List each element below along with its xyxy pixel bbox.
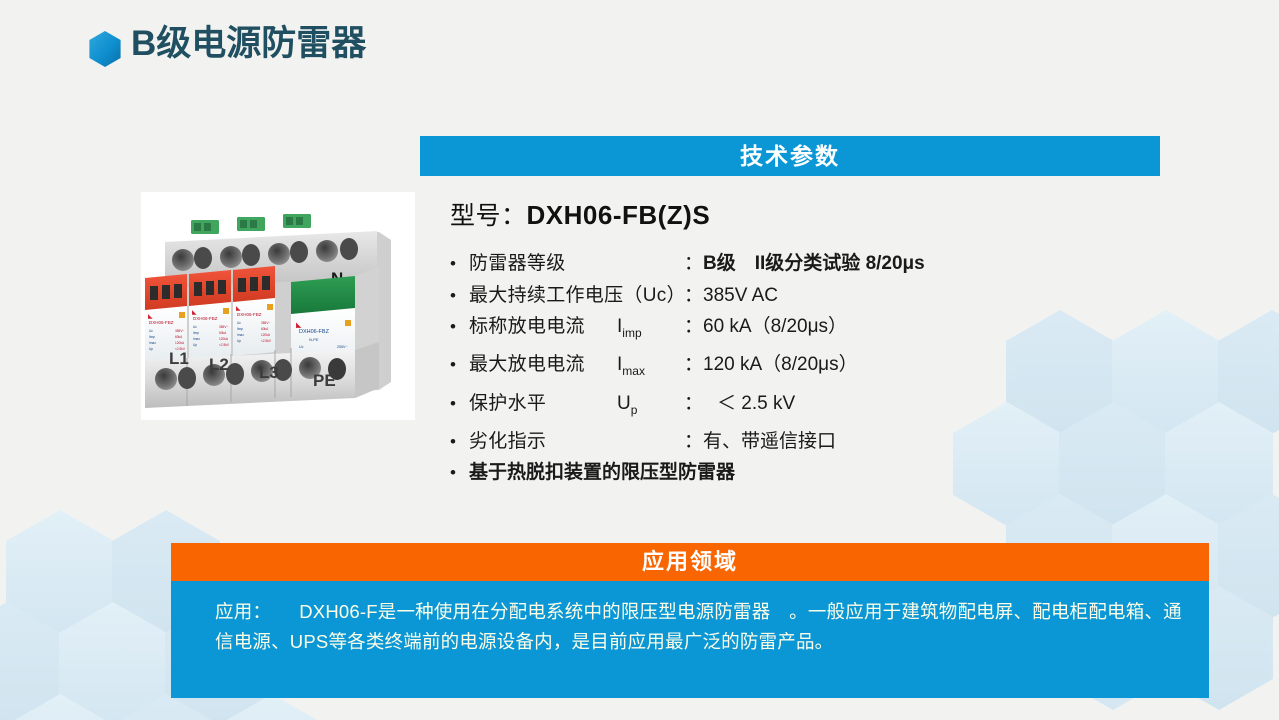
spec-name: 标称放电电流 (469, 311, 617, 343)
spec-name: 最大持续工作电压（Uc） (469, 280, 684, 312)
svg-text:◣: ◣ (296, 322, 302, 329)
svg-text:120kA: 120kA (261, 333, 271, 337)
application-body: 应用： DXH06-F是一种使用在分配电系统中的限压型电源防雷器 。一般应用于建… (171, 581, 1209, 698)
svg-text:Uc: Uc (237, 321, 241, 325)
svg-text:DXH06-FBZ: DXH06-FBZ (237, 312, 262, 317)
spec-value: ＜ 2.5 kV (703, 388, 795, 420)
svg-text:Up: Up (237, 339, 241, 343)
model-value: DXH06-FB(Z)S (527, 200, 711, 230)
svg-text:60kA: 60kA (175, 335, 183, 339)
spec-symbol: Up (617, 388, 684, 426)
svg-text:120kA: 120kA (219, 337, 229, 341)
spec-item-imax: 最大放电电流Imax：120 kA（8/20μs） (450, 349, 1150, 387)
spec-symbol: Iimp (617, 311, 684, 349)
svg-text:DXH06-FBZ: DXH06-FBZ (299, 329, 330, 335)
product-image: N DXH06-FBZ DX (141, 192, 415, 420)
svg-text:Iimp: Iimp (149, 335, 155, 339)
model-label: 型号： (450, 202, 527, 230)
spec-list: 防雷器等级：B级 II级分类试验 8/20μs 最大持续工作电压（Uc）：385… (450, 248, 1150, 489)
application-header-label: 应用领域 (171, 543, 1209, 581)
spec-name: 劣化指示 (469, 426, 684, 458)
spec-value: 60 kA（8/20μs） (703, 311, 847, 343)
svg-text:Uc: Uc (299, 345, 304, 349)
svg-text:◣: ◣ (192, 310, 197, 316)
svg-text:Imax: Imax (193, 337, 200, 341)
svg-text:Imax: Imax (149, 341, 156, 345)
svg-text:Up: Up (149, 347, 153, 351)
svg-text:385V~: 385V~ (261, 321, 270, 325)
spec-item-grade: 防雷器等级：B级 II级分类试验 8/20μs (450, 248, 1150, 280)
svg-text:L2: L2 (209, 355, 229, 374)
spec-value: B级 II级分类试验 8/20μs (703, 248, 925, 280)
svg-text:Up: Up (193, 343, 197, 347)
svg-text:Iimp: Iimp (193, 331, 199, 335)
svg-text:<2.5kV: <2.5kV (261, 339, 272, 343)
svg-text:<2.5kV: <2.5kV (219, 343, 230, 347)
svg-text:N-PE: N-PE (309, 337, 319, 342)
spec-item-up: 保护水平Up：＜ 2.5 kV (450, 388, 1150, 426)
hexagon-icon (88, 30, 122, 68)
tech-params-header-label: 技术参数 (420, 136, 1160, 176)
spec-value: 385V AC (703, 280, 778, 312)
spec-item-footnote: 基于热脱扣装置的限压型防雷器 (450, 457, 1150, 489)
svg-text:DXH06-FBZ: DXH06-FBZ (149, 320, 174, 325)
application-body-text: 应用： DXH06-F是一种使用在分配电系统中的限压型电源防雷器 。一般应用于建… (171, 581, 1209, 657)
spec-block: 型号：DXH06-FB(Z)S 防雷器等级：B级 II级分类试验 8/20μs … (450, 196, 1150, 489)
spec-item-degradation: 劣化指示：有、带遥信接口 (450, 426, 1150, 458)
application-header-bar: 应用领域 (171, 543, 1209, 581)
page-title: B级电源防雷器 (131, 20, 366, 68)
spec-colon: ： (684, 426, 703, 458)
spec-colon: ： (684, 248, 703, 280)
svg-text:L3: L3 (259, 363, 279, 382)
tech-params-header-bar: 技术参数 (420, 136, 1160, 176)
spec-colon: ： (684, 311, 703, 343)
svg-text:Uc: Uc (193, 325, 197, 329)
spec-item-iimp: 标称放电电流Iimp：60 kA（8/20μs） (450, 311, 1150, 349)
spec-value: 有、带遥信接口 (703, 426, 836, 458)
spec-colon: ： (684, 388, 703, 420)
page-header: B级电源防雷器 (0, 0, 1279, 88)
svg-text:Imax: Imax (237, 333, 244, 337)
spec-item-uc: 最大持续工作电压（Uc）：385V AC (450, 280, 1150, 312)
spec-value: 120 kA（8/20μs） (703, 349, 858, 381)
spec-symbol: Imax (617, 349, 684, 387)
svg-text:60kA: 60kA (261, 327, 269, 331)
svg-text:385V~: 385V~ (219, 325, 228, 329)
svg-text:120kA: 120kA (175, 341, 185, 345)
spec-name: 保护水平 (469, 388, 617, 420)
spec-colon: ： (684, 280, 703, 312)
svg-text:385V~: 385V~ (175, 329, 184, 333)
svg-text:Iimp: Iimp (237, 327, 243, 331)
svg-text:Uc: Uc (149, 329, 153, 333)
spec-name: 最大放电电流 (469, 349, 617, 381)
svg-text:DXH06-FBZ: DXH06-FBZ (193, 316, 218, 321)
svg-text:255V~: 255V~ (337, 345, 348, 349)
svg-text:◣: ◣ (236, 306, 241, 312)
spec-colon: ： (684, 349, 703, 381)
model-line: 型号：DXH06-FB(Z)S (450, 196, 1150, 232)
spec-name: 防雷器等级 (469, 248, 684, 280)
svg-text:L1: L1 (169, 349, 189, 368)
svg-text:60kA: 60kA (219, 331, 227, 335)
svg-text:PE: PE (313, 371, 336, 390)
svg-text:◣: ◣ (148, 314, 153, 320)
